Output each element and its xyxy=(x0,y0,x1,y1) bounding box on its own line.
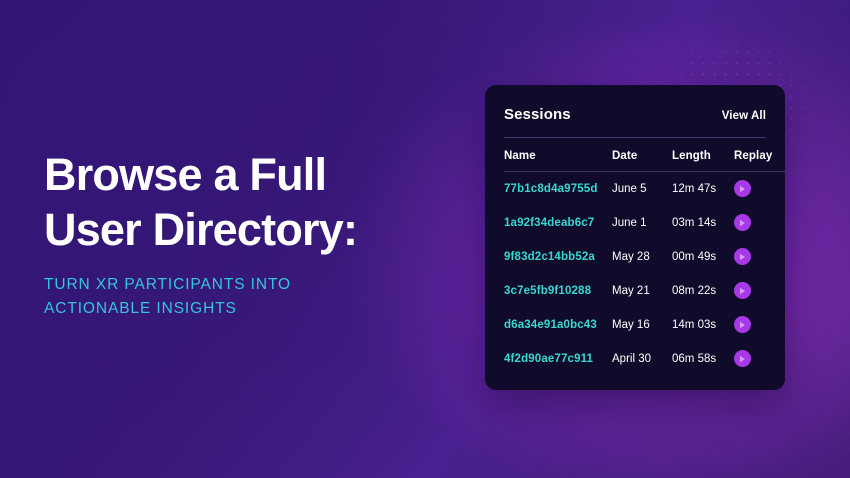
subtitle-line-2: ACTIONABLE INSIGHTS xyxy=(44,297,404,321)
session-replay-cell xyxy=(734,240,786,274)
session-id[interactable]: 1a92f34deab6c7 xyxy=(504,206,612,240)
session-date: April 30 xyxy=(612,342,672,376)
session-date: May 21 xyxy=(612,274,672,308)
session-id[interactable]: 3c7e5fb9f10288 xyxy=(504,274,612,308)
play-icon[interactable] xyxy=(734,214,751,231)
table-row[interactable]: 1a92f34deab6c7June 103m 14s xyxy=(504,206,786,240)
sessions-card: Sessions View All Name Date Length Repla… xyxy=(485,85,785,390)
subtitle: TURN XR PARTICIPANTS INTO ACTIONABLE INS… xyxy=(44,273,404,321)
session-date: May 28 xyxy=(612,240,672,274)
session-length: 03m 14s xyxy=(672,206,734,240)
play-icon[interactable] xyxy=(734,350,751,367)
session-id[interactable]: 77b1c8d4a9755d xyxy=(504,172,612,206)
session-length: 06m 58s xyxy=(672,342,734,376)
session-replay-cell xyxy=(734,342,786,376)
session-length: 14m 03s xyxy=(672,308,734,342)
table-row[interactable]: d6a34e91a0bc43May 1614m 03s xyxy=(504,308,786,342)
session-replay-cell xyxy=(734,274,786,308)
sessions-table-body: 77b1c8d4a9755dJune 512m 47s1a92f34deab6c… xyxy=(504,172,786,376)
column-header-date: Date xyxy=(612,138,672,172)
session-date: May 16 xyxy=(612,308,672,342)
session-id[interactable]: 4f2d90ae77c911 xyxy=(504,342,612,376)
play-icon[interactable] xyxy=(734,180,751,197)
headline-line-2: User Directory: xyxy=(44,203,444,258)
table-row[interactable]: 3c7e5fb9f10288May 2108m 22s xyxy=(504,274,786,308)
column-header-name: Name xyxy=(504,138,612,172)
promo-banner: Browse a Full User Directory: TURN XR PA… xyxy=(0,0,850,478)
headline: Browse a Full User Directory: xyxy=(44,148,444,258)
session-length: 12m 47s xyxy=(672,172,734,206)
session-date: June 5 xyxy=(612,172,672,206)
table-row[interactable]: 9f83d2c14bb52aMay 2800m 49s xyxy=(504,240,786,274)
subtitle-line-1: TURN XR PARTICIPANTS INTO xyxy=(44,273,404,297)
view-all-link[interactable]: View All xyxy=(722,110,766,122)
sessions-table: Name Date Length Replay 77b1c8d4a9755dJu… xyxy=(504,138,786,376)
session-replay-cell xyxy=(734,308,786,342)
session-length: 00m 49s xyxy=(672,240,734,274)
session-id[interactable]: 9f83d2c14bb52a xyxy=(504,240,612,274)
column-header-replay: Replay xyxy=(734,138,786,172)
headline-line-1: Browse a Full xyxy=(44,148,444,203)
session-id[interactable]: d6a34e91a0bc43 xyxy=(504,308,612,342)
session-length: 08m 22s xyxy=(672,274,734,308)
play-icon[interactable] xyxy=(734,282,751,299)
session-date: June 1 xyxy=(612,206,672,240)
table-row[interactable]: 4f2d90ae77c911April 3006m 58s xyxy=(504,342,786,376)
table-header-row: Name Date Length Replay xyxy=(504,138,786,172)
session-replay-cell xyxy=(734,206,786,240)
table-row[interactable]: 77b1c8d4a9755dJune 512m 47s xyxy=(504,172,786,206)
play-icon[interactable] xyxy=(734,248,751,265)
session-replay-cell xyxy=(734,172,786,206)
play-icon[interactable] xyxy=(734,316,751,333)
sessions-table-header: Name Date Length Replay xyxy=(504,138,786,172)
sessions-card-header: Sessions View All xyxy=(504,85,766,138)
column-header-length: Length xyxy=(672,138,734,172)
sessions-title: Sessions xyxy=(504,106,571,123)
